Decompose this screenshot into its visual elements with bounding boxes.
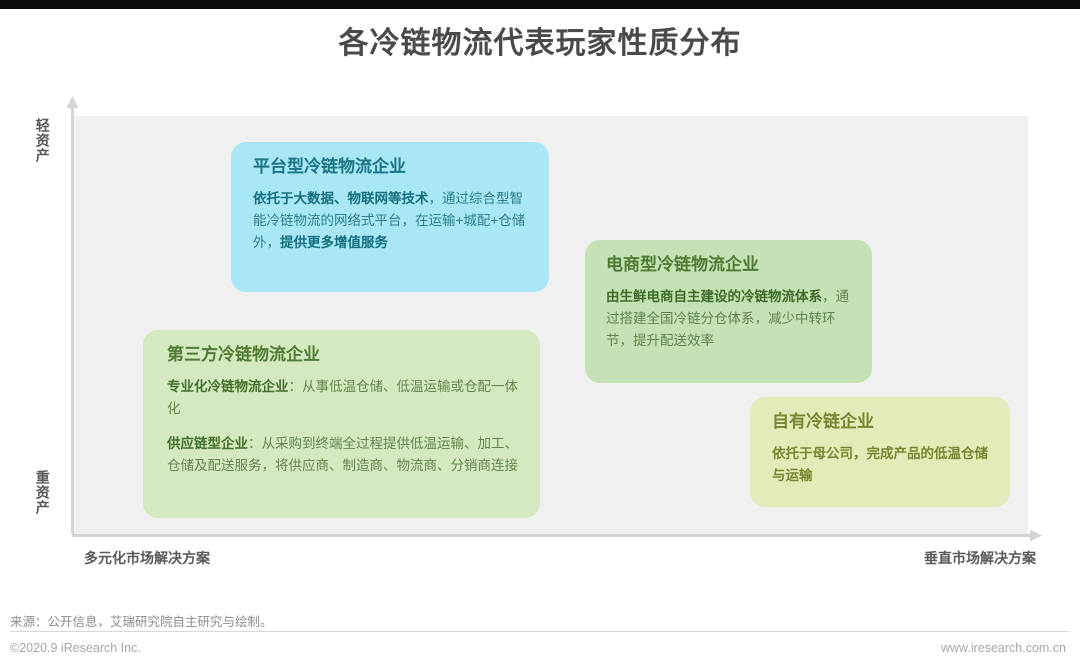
card-own-cold-chain: 自有冷链企业 依托于母公司，完成产品的低温仓储与运输 bbox=[750, 397, 1010, 507]
card-third-party-p2-bold: 供应链型企业 bbox=[167, 436, 248, 451]
card-ecommerce-body-bold: 由生鲜电商自主建设的冷链物流体系 bbox=[606, 289, 822, 304]
website-url: www.iresearch.com.cn bbox=[941, 641, 1066, 655]
card-platform-body-bold-2: 提供更多增值服务 bbox=[280, 235, 388, 250]
card-platform-body: 依托于大数据、物联网等技术，通过综合型智能冷链物流的网络式平台，在运输+城配+仓… bbox=[253, 188, 531, 254]
source-note: 来源：公开信息，艾瑞研究院自主研究与绘制。 bbox=[10, 611, 273, 630]
card-own-chain-body: 依托于母公司，完成产品的低温仓储与运输 bbox=[772, 443, 992, 487]
card-third-party-p1-bold: 专业化冷链物流企业 bbox=[167, 379, 289, 394]
card-platform-body-bold-1: 依托于大数据、物联网等技术 bbox=[253, 191, 429, 206]
card-ecommerce-cold-chain: 电商型冷链物流企业 由生鲜电商自主建设的冷链物流体系，通过搭建全国冷链分仓体系，… bbox=[585, 240, 872, 383]
y-axis-label-top: 轻资产 bbox=[35, 118, 50, 163]
copyright-text: ©2020.9 iResearch Inc. bbox=[10, 641, 141, 655]
page-title: 各冷链物流代表玩家性质分布 bbox=[0, 18, 1080, 62]
card-third-party-title: 第三方冷链物流企业 bbox=[167, 345, 520, 365]
card-third-party-cold-chain: 第三方冷链物流企业 专业化冷链物流企业：从事低温仓储、低温运输或仓配一体化 供应… bbox=[143, 330, 540, 518]
card-ecommerce-body: 由生鲜电商自主建设的冷链物流体系，通过搭建全国冷链分仓体系，减少中转环节，提升配… bbox=[606, 286, 854, 352]
footer-divider bbox=[10, 631, 1070, 632]
y-axis-label-bottom: 重资产 bbox=[35, 470, 50, 515]
card-third-party-body: 专业化冷链物流企业：从事低温仓储、低温运输或仓配一体化 供应链型企业：从采购到终… bbox=[167, 376, 520, 476]
top-black-bar bbox=[0, 0, 1080, 9]
card-own-chain-title: 自有冷链企业 bbox=[772, 412, 992, 432]
x-axis-label-left: 多元化市场解决方案 bbox=[84, 548, 210, 568]
x-axis-label-right: 垂直市场解决方案 bbox=[924, 548, 1036, 568]
card-platform-cold-chain: 平台型冷链物流企业 依托于大数据、物联网等技术，通过综合型智能冷链物流的网络式平… bbox=[231, 142, 549, 292]
card-platform-title: 平台型冷链物流企业 bbox=[253, 157, 531, 177]
card-ecommerce-title: 电商型冷链物流企业 bbox=[606, 255, 854, 275]
card-own-chain-body-bold: 依托于母公司，完成产品的低温仓储与运输 bbox=[772, 446, 988, 483]
